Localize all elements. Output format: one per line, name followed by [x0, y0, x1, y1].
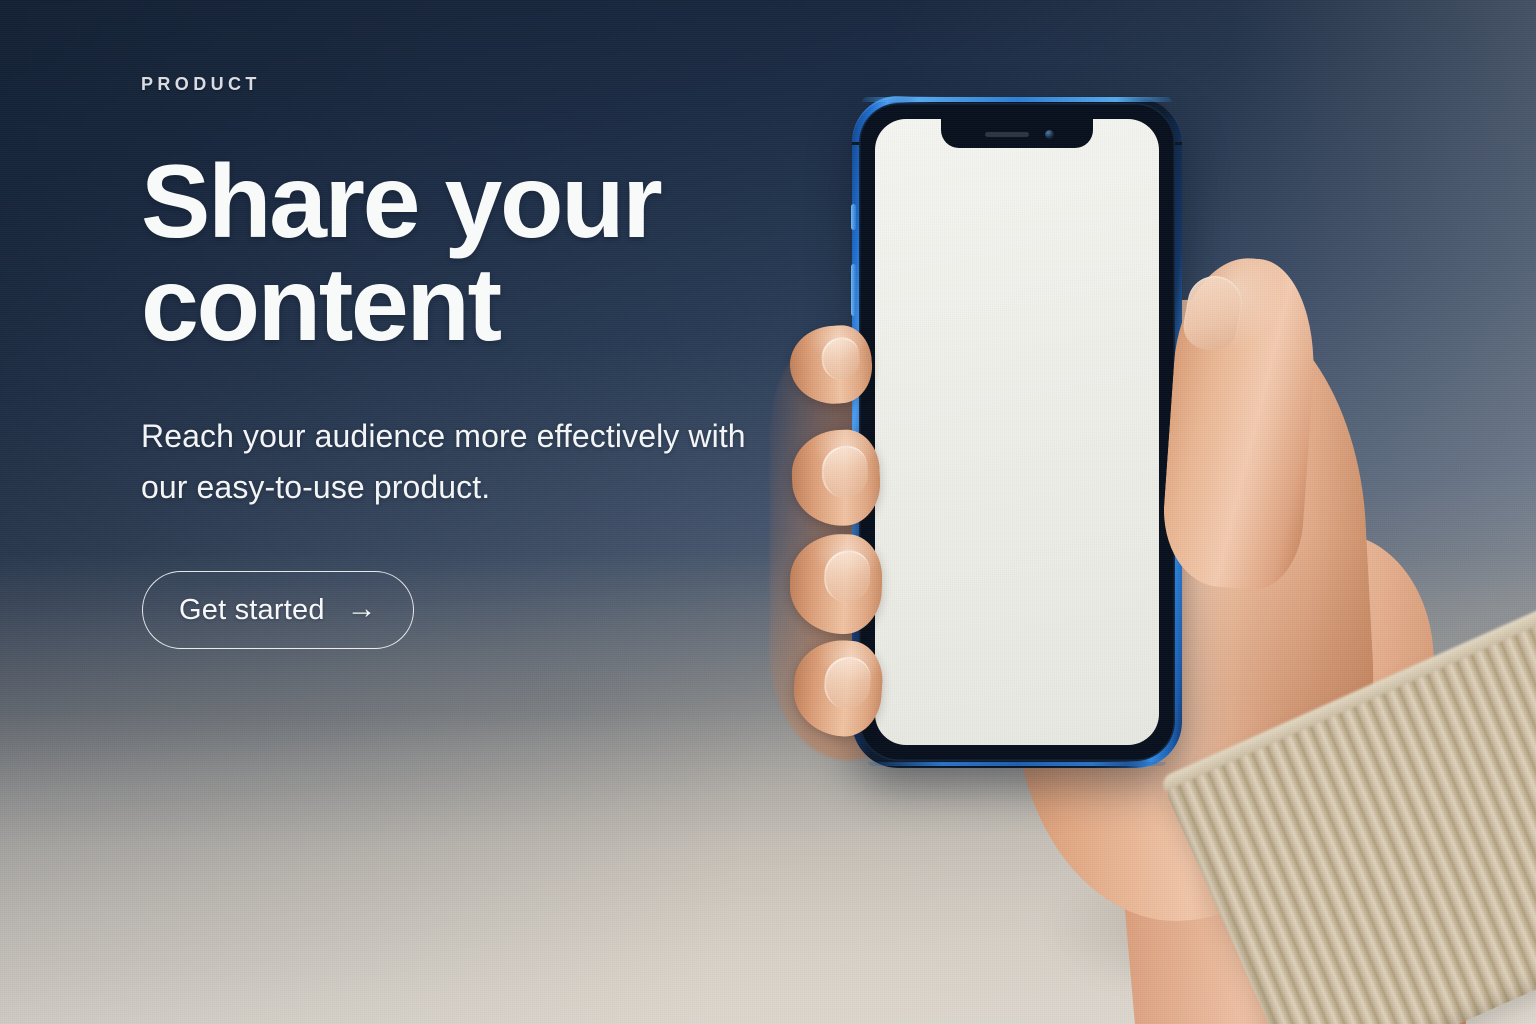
fingernail [823, 655, 873, 710]
hero-subheading: Reach your audience more effectively wit… [141, 411, 781, 513]
hero-banner: PRODUCT Share your content Reach your au… [0, 0, 1536, 1024]
get-started-button-label: Get started [179, 594, 325, 627]
front-camera-icon [1045, 130, 1054, 139]
get-started-button[interactable]: Get started → [142, 571, 414, 649]
mute-switch[interactable] [851, 204, 856, 230]
phone-frame-top-highlight [862, 97, 1172, 102]
hero-copy: PRODUCT Share your content Reach your au… [141, 74, 841, 649]
smartphone-mockup[interactable] [852, 96, 1182, 768]
volume-up-button[interactable] [851, 264, 856, 316]
arrow-right-icon: → [347, 594, 377, 624]
page-title: Share your content [141, 151, 701, 357]
phone-notch [941, 119, 1093, 148]
eyebrow-label: PRODUCT [141, 74, 841, 95]
phone-bezel [859, 103, 1175, 761]
earpiece-speaker-icon [985, 132, 1029, 137]
phone-screen-blank[interactable] [875, 119, 1159, 745]
antenna-band-right [1174, 142, 1182, 145]
phone-frame-bottom-highlight [868, 762, 1166, 766]
